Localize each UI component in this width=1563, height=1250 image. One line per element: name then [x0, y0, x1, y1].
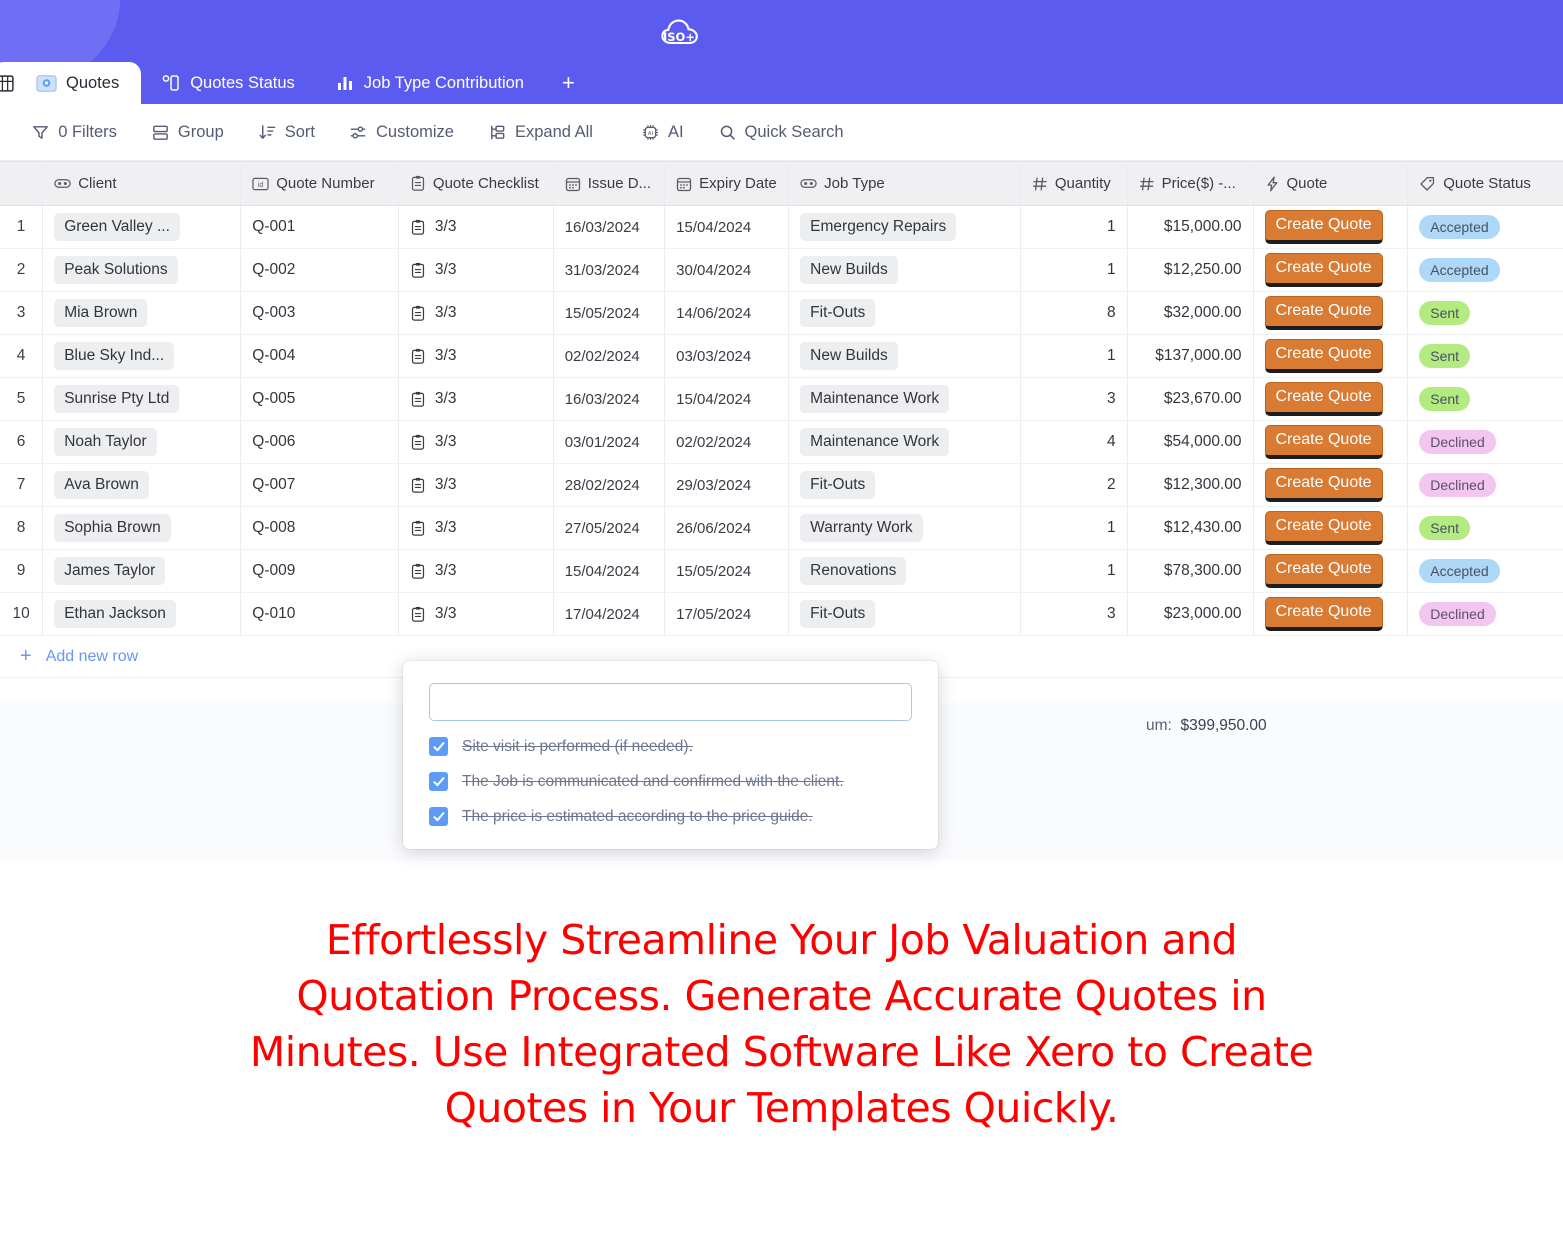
status-badge: Sent: [1419, 516, 1470, 540]
tag-icon: [1419, 176, 1436, 192]
cell-quote: Create Quote: [1254, 292, 1409, 334]
checklist-item[interactable]: The Job is communicated and confirmed wi…: [429, 772, 912, 791]
header-quote-status[interactable]: Quote Status: [1408, 162, 1563, 205]
tab-quotes[interactable]: Quotes: [0, 62, 141, 104]
image-icon: [36, 74, 57, 93]
create-quote-button[interactable]: Create Quote: [1265, 339, 1383, 374]
header-label: Quote Status: [1443, 175, 1531, 192]
caption-line: Quotation Process. Generate Accurate Quo…: [0, 968, 1563, 1024]
cell-price[interactable]: $137,000.00: [1128, 335, 1254, 377]
checklist-item-label: The price is estimated according to the …: [462, 808, 813, 826]
cell-issue-date[interactable]: 17/04/2024: [554, 593, 665, 635]
header-label: Issue D...: [588, 175, 651, 192]
cell-quote-status[interactable]: Accepted: [1408, 206, 1563, 248]
cell-quote-number[interactable]: Q-005: [241, 378, 399, 420]
job-type-chip: Renovations: [800, 557, 906, 585]
cell-client[interactable]: Noah Taylor: [43, 421, 241, 463]
top-bar: ISO+: [0, 0, 1563, 62]
status-badge: Sent: [1419, 387, 1470, 411]
clipboard-icon: [410, 175, 426, 192]
calendar-icon: [565, 176, 581, 192]
create-quote-button[interactable]: Create Quote: [1265, 554, 1383, 589]
header-label: Quote Number: [276, 175, 374, 192]
filters-button[interactable]: 0 Filters: [21, 117, 127, 148]
cell-issue-date[interactable]: 28/02/2024: [554, 464, 665, 506]
checklist-item-label: Site visit is performed (if needed).: [462, 738, 693, 756]
cell-quote-checklist[interactable]: 3/3: [399, 292, 554, 334]
cell-expiry-date[interactable]: 14/06/2024: [665, 292, 789, 334]
row-number: 3: [0, 292, 43, 334]
cell-quote: Create Quote: [1254, 378, 1409, 420]
ai-button[interactable]: AI AI: [631, 117, 694, 148]
expand-all-button[interactable]: Expand All: [478, 117, 603, 148]
cell-quote-number[interactable]: Q-004: [241, 335, 399, 377]
cell-quote-number[interactable]: Q-003: [241, 292, 399, 334]
job-type-chip: Warranty Work: [800, 514, 922, 542]
sort-label: Sort: [285, 123, 315, 142]
cell-quote-checklist[interactable]: 3/3: [399, 550, 554, 592]
job-type-chip: Emergency Repairs: [800, 213, 956, 241]
create-quote-button[interactable]: Create Quote: [1265, 511, 1383, 546]
checklist-count: 3/3: [435, 519, 457, 537]
create-quote-button[interactable]: Create Quote: [1265, 425, 1383, 460]
cell-issue-date[interactable]: 16/03/2024: [554, 378, 665, 420]
cell-quote-checklist[interactable]: 3/3: [399, 335, 554, 377]
row-number: 4: [0, 335, 43, 377]
clipboard-icon: [410, 520, 426, 537]
cell-quote-status[interactable]: Sent: [1408, 507, 1563, 549]
clipboard-icon: [410, 606, 426, 623]
cell-quote-checklist[interactable]: 3/3: [399, 249, 554, 291]
checklist-count: 3/3: [435, 390, 457, 408]
caption-line: Effortlessly Streamline Your Job Valuati…: [0, 912, 1563, 968]
header-job-type[interactable]: Job Type: [789, 162, 1021, 205]
cell-quote-checklist[interactable]: 3/3: [399, 593, 554, 635]
cell-expiry-date[interactable]: 03/03/2024: [665, 335, 789, 377]
cell-job-type[interactable]: Fit-Outs: [789, 593, 1021, 635]
cell-quote-status[interactable]: Declined: [1408, 593, 1563, 635]
cell-client[interactable]: Green Valley ...: [43, 206, 241, 248]
job-type-chip: Maintenance Work: [800, 428, 949, 456]
expand-all-label: Expand All: [515, 123, 593, 142]
header-quote-checklist[interactable]: Quote Checklist: [399, 162, 554, 205]
checklist-count: 3/3: [435, 433, 457, 451]
header-label: Job Type: [824, 175, 885, 192]
plus-icon: +: [20, 645, 32, 668]
checkbox-checked-icon[interactable]: [429, 807, 448, 826]
client-chip: Ava Brown: [54, 471, 149, 499]
table-row[interactable]: 1Green Valley ...Q-0013/316/03/202415/04…: [0, 206, 1563, 249]
header-issue-date[interactable]: Issue D...: [554, 162, 665, 205]
client-chip: Ethan Jackson: [54, 600, 176, 628]
status-badge: Declined: [1419, 430, 1495, 454]
sum-summary: um: $399,950.00: [1146, 717, 1267, 735]
create-quote-button[interactable]: Create Quote: [1265, 210, 1383, 245]
checkbox-checked-icon[interactable]: [429, 737, 448, 756]
checklist-item[interactable]: The price is estimated according to the …: [429, 807, 912, 826]
create-quote-button[interactable]: Create Quote: [1265, 296, 1383, 331]
cell-issue-date[interactable]: 31/03/2024: [554, 249, 665, 291]
header-quote[interactable]: Quote: [1254, 162, 1409, 205]
cell-quote: Create Quote: [1254, 206, 1409, 248]
client-chip: Peak Solutions: [54, 256, 177, 284]
group-icon: [151, 123, 170, 142]
sort-icon: [258, 123, 277, 142]
clipboard-icon: [410, 477, 426, 494]
cell-quantity[interactable]: 8: [1021, 292, 1128, 334]
row-number: 10: [0, 593, 43, 635]
cell-quote: Create Quote: [1254, 335, 1409, 377]
customize-label: Customize: [376, 123, 454, 142]
job-type-chip: New Builds: [800, 256, 898, 284]
cell-quantity[interactable]: 3: [1021, 593, 1128, 635]
toolbar: able 0 Filters Group Sort Customize: [0, 104, 1563, 161]
client-chip: Blue Sky Ind...: [54, 342, 174, 370]
cell-job-type[interactable]: New Builds: [789, 335, 1021, 377]
cell-quote-status[interactable]: Declined: [1408, 464, 1563, 506]
link-icon: [54, 176, 71, 191]
clipboard-icon: [410, 391, 426, 408]
id-icon: id: [252, 176, 269, 192]
cell-quote: Create Quote: [1254, 593, 1409, 635]
row-number: 7: [0, 464, 43, 506]
status-badge: Sent: [1419, 301, 1470, 325]
cell-issue-date[interactable]: 15/05/2024: [554, 292, 665, 334]
group-label: Group: [178, 123, 224, 142]
header-label: Quote Checklist: [433, 175, 539, 192]
cell-price[interactable]: $12,430.00: [1128, 507, 1254, 549]
checklist-item-label: The Job is communicated and confirmed wi…: [462, 773, 844, 791]
checklist-count: 3/3: [435, 304, 457, 322]
client-chip: Mia Brown: [54, 299, 147, 327]
quick-search-label: Quick Search: [745, 123, 844, 142]
client-chip: Sophia Brown: [54, 514, 171, 542]
cell-client[interactable]: James Taylor: [43, 550, 241, 592]
cell-expiry-date[interactable]: 29/03/2024: [665, 464, 789, 506]
cell-client[interactable]: Blue Sky Ind...: [43, 335, 241, 377]
cell-quote: Create Quote: [1254, 550, 1409, 592]
link-icon: [800, 176, 817, 191]
cell-client[interactable]: Mia Brown: [43, 292, 241, 334]
cell-price[interactable]: $23,670.00: [1128, 378, 1254, 420]
cell-price[interactable]: $54,000.00: [1128, 421, 1254, 463]
cell-quote: Create Quote: [1254, 421, 1409, 463]
header-client[interactable]: Client: [43, 162, 241, 205]
cell-expiry-date[interactable]: 30/04/2024: [665, 249, 789, 291]
header-quantity[interactable]: Quantity: [1021, 162, 1128, 205]
create-quote-button[interactable]: Create Quote: [1265, 597, 1383, 632]
view-table-button[interactable]: able: [0, 117, 7, 148]
cell-job-type[interactable]: Maintenance Work: [789, 421, 1021, 463]
status-badge: Declined: [1419, 473, 1495, 497]
header-price[interactable]: Price($) -...: [1128, 162, 1254, 205]
client-chip: Sunrise Pty Ltd: [54, 385, 179, 413]
cell-quantity[interactable]: 1: [1021, 507, 1128, 549]
clipboard-icon: [410, 348, 426, 365]
create-quote-button[interactable]: Create Quote: [1265, 253, 1383, 288]
cell-quote-checklist[interactable]: 3/3: [399, 206, 554, 248]
client-chip: Green Valley ...: [54, 213, 180, 241]
cell-client[interactable]: Ava Brown: [43, 464, 241, 506]
checklist-count: 3/3: [435, 605, 457, 623]
add-tab-button[interactable]: +: [544, 62, 593, 104]
cell-client[interactable]: Sophia Brown: [43, 507, 241, 549]
sort-button[interactable]: Sort: [248, 117, 325, 148]
data-grid: Client id Quote Number Quote Checklist I…: [0, 161, 1563, 678]
cell-quote-number[interactable]: Q-001: [241, 206, 399, 248]
cell-price[interactable]: $12,300.00: [1128, 464, 1254, 506]
clipboard-icon: [410, 219, 426, 236]
header-quote-number[interactable]: id Quote Number: [241, 162, 399, 205]
cell-quote-checklist[interactable]: 3/3: [399, 378, 554, 420]
cell-quote-status[interactable]: Sent: [1408, 378, 1563, 420]
promo-caption: Effortlessly Streamline Your Job Valuati…: [0, 912, 1563, 1136]
row-number: 6: [0, 421, 43, 463]
cell-client[interactable]: Peak Solutions: [43, 249, 241, 291]
checklist-items: Site visit is performed (if needed).The …: [429, 737, 912, 826]
bolt-icon: [1265, 176, 1280, 192]
cell-quote-checklist[interactable]: 3/3: [399, 464, 554, 506]
expand-all-icon: [488, 123, 507, 142]
cell-client[interactable]: Ethan Jackson: [43, 593, 241, 635]
checklist-count: 3/3: [435, 218, 457, 236]
cell-quote-number[interactable]: Q-006: [241, 421, 399, 463]
cell-expiry-date[interactable]: 15/04/2024: [665, 378, 789, 420]
svg-text:AI: AI: [648, 130, 654, 136]
clipboard-icon: [410, 434, 426, 451]
status-badge: Accepted: [1419, 215, 1499, 239]
cell-client[interactable]: Sunrise Pty Ltd: [43, 378, 241, 420]
group-button[interactable]: Group: [141, 117, 234, 148]
client-chip: Noah Taylor: [54, 428, 156, 456]
cell-quote-number[interactable]: Q-002: [241, 249, 399, 291]
decorative-blob: [0, 0, 120, 62]
create-quote-button[interactable]: Create Quote: [1265, 382, 1383, 417]
cell-quantity[interactable]: 1: [1021, 206, 1128, 248]
app-root: ISO+ Quotes Quotes Status Job Type Contr…: [0, 0, 1563, 1250]
header-label: Quantity: [1055, 175, 1111, 192]
hash-icon: [1139, 176, 1155, 192]
cell-issue-date[interactable]: 03/01/2024: [554, 421, 665, 463]
tab-quotes-status[interactable]: Quotes Status: [141, 62, 315, 104]
tab-label: Quotes: [66, 74, 119, 93]
checklist-count: 3/3: [435, 347, 457, 365]
checklist-popup: Site visit is performed (if needed).The …: [403, 661, 938, 849]
header-label: Client: [78, 175, 116, 192]
filters-label: 0 Filters: [58, 123, 117, 142]
table-header-row: Client id Quote Number Quote Checklist I…: [0, 161, 1563, 206]
hash-icon: [1032, 176, 1048, 192]
table-body: 1Green Valley ...Q-0013/316/03/202415/04…: [0, 206, 1563, 636]
checklist-count: 3/3: [435, 476, 457, 494]
cell-quote-status[interactable]: Declined: [1408, 421, 1563, 463]
table-row[interactable]: 9James TaylorQ-0093/315/04/202415/05/202…: [0, 550, 1563, 593]
job-type-chip: Fit-Outs: [800, 299, 875, 327]
checklist-item[interactable]: Site visit is performed (if needed).: [429, 737, 912, 756]
search-icon: [718, 123, 737, 142]
cell-quantity[interactable]: 2: [1021, 464, 1128, 506]
cell-quote-number[interactable]: Q-010: [241, 593, 399, 635]
cell-quote: Create Quote: [1254, 464, 1409, 506]
job-type-chip: Fit-Outs: [800, 600, 875, 628]
customize-button[interactable]: Customize: [339, 117, 464, 148]
cell-price[interactable]: $78,300.00: [1128, 550, 1254, 592]
cell-price[interactable]: $12,250.00: [1128, 249, 1254, 291]
cell-expiry-date[interactable]: 15/05/2024: [665, 550, 789, 592]
caption-line: Minutes. Use Integrated Software Like Xe…: [0, 1024, 1563, 1080]
cell-issue-date[interactable]: 15/04/2024: [554, 550, 665, 592]
clipboard-icon: [410, 563, 426, 580]
cell-issue-date[interactable]: 16/03/2024: [554, 206, 665, 248]
header-row-number: [0, 162, 43, 205]
cell-quantity[interactable]: 4: [1021, 421, 1128, 463]
cell-issue-date[interactable]: 02/02/2024: [554, 335, 665, 377]
iso-plus-logo-icon: ISO+: [658, 13, 702, 47]
cell-expiry-date[interactable]: 15/04/2024: [665, 206, 789, 248]
cell-price[interactable]: $23,000.00: [1128, 593, 1254, 635]
sum-label: um:: [1146, 717, 1172, 734]
cell-expiry-date[interactable]: 17/05/2024: [665, 593, 789, 635]
cell-price[interactable]: $15,000.00: [1128, 206, 1254, 248]
table-row[interactable]: 5Sunrise Pty LtdQ-0053/316/03/202415/04/…: [0, 378, 1563, 421]
header-label: Quote: [1287, 175, 1328, 192]
cell-quote-status[interactable]: Sent: [1408, 335, 1563, 377]
table-row[interactable]: 10Ethan JacksonQ-0103/317/04/202417/05/2…: [0, 593, 1563, 636]
cell-price[interactable]: $32,000.00: [1128, 292, 1254, 334]
cell-quote-status[interactable]: Accepted: [1408, 550, 1563, 592]
job-type-chip: Fit-Outs: [800, 471, 875, 499]
cell-expiry-date[interactable]: 26/06/2024: [665, 507, 789, 549]
tab-label: Quotes Status: [190, 74, 295, 93]
cell-job-type[interactable]: Maintenance Work: [789, 378, 1021, 420]
sum-value: $399,950.00: [1180, 717, 1266, 734]
cell-job-type[interactable]: Fit-Outs: [789, 464, 1021, 506]
header-expiry-date[interactable]: Expiry Date: [665, 162, 789, 205]
add-new-row-label: Add new row: [46, 648, 139, 666]
table-row[interactable]: 6Noah TaylorQ-0063/303/01/202402/02/2024…: [0, 421, 1563, 464]
tab-label: Job Type Contribution: [364, 74, 524, 93]
cell-quote-checklist[interactable]: 3/3: [399, 421, 554, 463]
clipboard-icon: [410, 262, 426, 279]
quick-search-button[interactable]: Quick Search: [708, 117, 854, 148]
tab-strip: Quotes Quotes Status Job Type Contributi…: [0, 62, 1563, 104]
header-label: Price($) -...: [1162, 175, 1236, 192]
row-number: 5: [0, 378, 43, 420]
filter-icon: [31, 123, 50, 142]
svg-text:id: id: [258, 181, 264, 189]
cell-job-type[interactable]: Emergency Repairs: [789, 206, 1021, 248]
checklist-count: 3/3: [435, 261, 457, 279]
status-badge: Sent: [1419, 344, 1470, 368]
table-row[interactable]: 8Sophia BrownQ-0083/327/05/202426/06/202…: [0, 507, 1563, 550]
table-row[interactable]: 3Mia BrownQ-0033/315/05/202414/06/2024Fi…: [0, 292, 1563, 335]
cell-quote-status[interactable]: Sent: [1408, 292, 1563, 334]
cell-job-type[interactable]: Renovations: [789, 550, 1021, 592]
cell-quantity[interactable]: 1: [1021, 249, 1128, 291]
table-row[interactable]: 4Blue Sky Ind...Q-0043/302/02/202403/03/…: [0, 335, 1563, 378]
cell-quote-number[interactable]: Q-009: [241, 550, 399, 592]
ai-label: AI: [668, 123, 684, 142]
cell-quantity[interactable]: 1: [1021, 550, 1128, 592]
sliders-icon: [349, 123, 368, 142]
clipboard-icon: [410, 305, 426, 322]
row-number: 2: [0, 249, 43, 291]
calendar-icon: [676, 176, 692, 192]
client-chip: James Taylor: [54, 557, 165, 585]
cell-quote-status[interactable]: Accepted: [1408, 249, 1563, 291]
cell-quantity[interactable]: 1: [1021, 335, 1128, 377]
ai-chip-icon: AI: [641, 123, 660, 142]
bar-chart-icon: [335, 73, 355, 93]
job-type-chip: Maintenance Work: [800, 385, 949, 413]
cell-quote: Create Quote: [1254, 507, 1409, 549]
cell-issue-date[interactable]: 27/05/2024: [554, 507, 665, 549]
table-grid-icon: [0, 73, 15, 94]
cell-quote-number[interactable]: Q-008: [241, 507, 399, 549]
checklist-new-item-input[interactable]: [429, 683, 912, 721]
cell-quote-number[interactable]: Q-007: [241, 464, 399, 506]
kanban-icon: [161, 73, 181, 93]
row-number: 9: [0, 550, 43, 592]
table-row[interactable]: 7Ava BrownQ-0073/328/02/202429/03/2024Fi…: [0, 464, 1563, 507]
status-badge: Accepted: [1419, 258, 1499, 282]
create-quote-button[interactable]: Create Quote: [1265, 468, 1383, 503]
cell-quantity[interactable]: 3: [1021, 378, 1128, 420]
cell-expiry-date[interactable]: 02/02/2024: [665, 421, 789, 463]
table-row[interactable]: 2Peak SolutionsQ-0023/331/03/202430/04/2…: [0, 249, 1563, 292]
tab-job-type-contribution[interactable]: Job Type Contribution: [315, 62, 544, 104]
checkbox-checked-icon[interactable]: [429, 772, 448, 791]
checklist-count: 3/3: [435, 562, 457, 580]
row-number: 8: [0, 507, 43, 549]
cell-quote-checklist[interactable]: 3/3: [399, 507, 554, 549]
header-label: Expiry Date: [699, 175, 777, 192]
status-badge: Accepted: [1419, 559, 1499, 583]
cell-job-type[interactable]: Fit-Outs: [789, 292, 1021, 334]
cell-job-type[interactable]: Warranty Work: [789, 507, 1021, 549]
status-badge: Declined: [1419, 602, 1495, 626]
cell-quote: Create Quote: [1254, 249, 1409, 291]
svg-text:ISO+: ISO+: [663, 30, 695, 44]
job-type-chip: New Builds: [800, 342, 898, 370]
caption-line: Quotes in Your Templates Quickly.: [0, 1080, 1563, 1136]
row-number: 1: [0, 206, 43, 248]
cell-job-type[interactable]: New Builds: [789, 249, 1021, 291]
